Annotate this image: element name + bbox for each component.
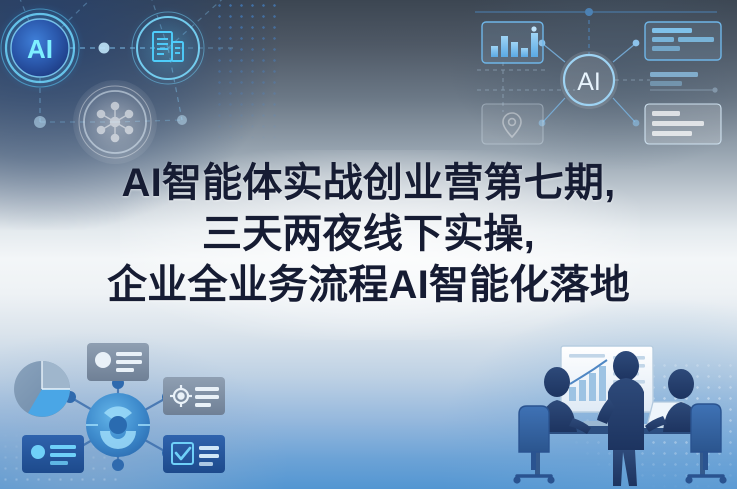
dot-matrix-right-icon (560, 360, 737, 489)
dot-matrix-left-icon (214, 0, 280, 150)
location-pin-card-icon (482, 104, 543, 144)
background-wash-top-right (450, 0, 737, 170)
molecule-network-node (73, 80, 157, 164)
office-meeting-illustration (495, 340, 737, 489)
ai-hub-label: AI (577, 68, 601, 96)
gear-settings-card-icon (163, 377, 225, 415)
ai-promo-banner: AI (0, 0, 737, 489)
text-lines-card-icon (645, 22, 721, 60)
seated-person-icon (539, 367, 591, 434)
desk-icon (521, 426, 719, 476)
hub-spokes-icon (543, 44, 635, 122)
headline-line-2: 三天两夜线下实操, (0, 209, 737, 260)
background-wash-bottom-left (0, 330, 290, 489)
text-lines-card-faded-icon (645, 104, 721, 144)
headline-line-3: 企业全业务流程AI智能化落地 (0, 260, 737, 311)
checkbox-task-card-icon (163, 435, 225, 473)
molecule-network-icon (97, 102, 132, 141)
ai-node-network: AI (0, 0, 265, 180)
laptop-icon (643, 402, 695, 428)
headline-line-1: AI智能体实战创业营第七期, (0, 158, 737, 209)
office-chair-icon (513, 406, 554, 484)
ai-badge-label: AI (27, 34, 53, 64)
background-wash-bottom-right (440, 300, 737, 489)
hub-spoke-dots-icon (539, 40, 640, 127)
cluster-connector-dots-icon (64, 377, 174, 471)
rail-lines-faint-icon (477, 62, 718, 112)
hub-circle-icon (86, 393, 150, 457)
pie-chart-icon (14, 361, 70, 417)
monitor-chart-icon (561, 346, 653, 426)
rail-lines-icon (475, 8, 717, 56)
analytics-node-cluster (0, 335, 265, 489)
profile-card-icon (87, 343, 149, 381)
bar-chart-card-icon (482, 22, 543, 63)
ai-hub-node: AI (560, 51, 618, 109)
ai-badge-icon: AI (0, 3, 85, 93)
cluster-connector-lines-icon (70, 383, 168, 465)
text-lines-group-icon (650, 72, 698, 86)
dot-matrix-bottom-left-icon (0, 430, 120, 489)
contact-card-icon (22, 435, 84, 473)
office-chair-icon (685, 404, 726, 484)
headline: AI智能体实战创业营第七期, 三天两夜线下实操, 企业全业务流程AI智能化落地 (0, 158, 737, 311)
connector-dots-icon (34, 43, 187, 129)
document-report-node (126, 6, 210, 90)
connector-lines-icon (18, 0, 235, 122)
document-report-icon (153, 32, 183, 61)
presenter-person-icon (597, 351, 644, 486)
ai-hub-diagram: AI (455, 0, 737, 165)
seated-person-icon (645, 369, 699, 432)
